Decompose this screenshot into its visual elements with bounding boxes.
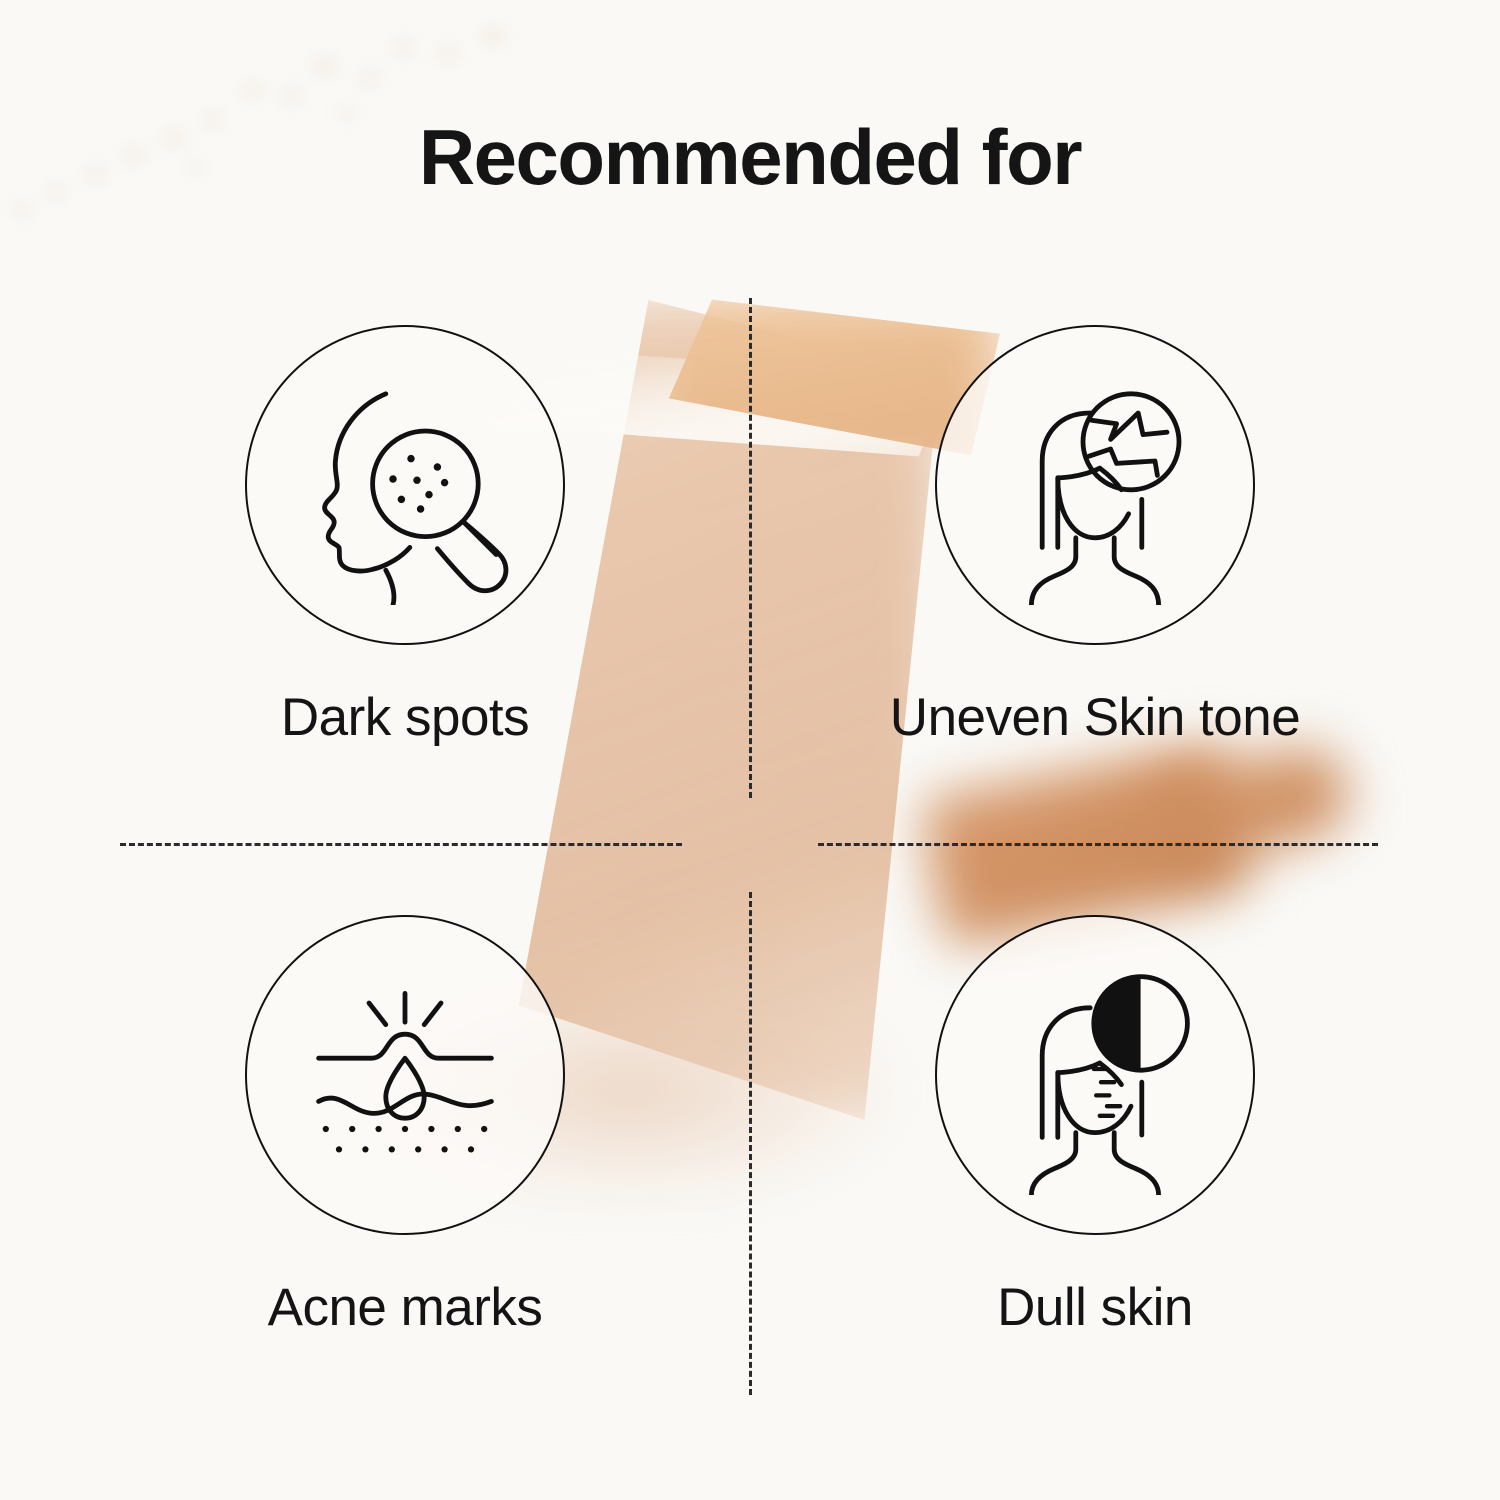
woman-dull-skin-contrast-icon: [935, 915, 1255, 1235]
recommended-for-poster: Recommended for: [0, 0, 1500, 1500]
face-magnifier-spots-icon: [245, 325, 565, 645]
benefit-label: Uneven Skin tone: [890, 687, 1300, 748]
benefit-item-dark-spots: Dark spots: [85, 325, 725, 748]
benefit-item-acne-marks: Acne marks: [85, 915, 725, 1338]
benefit-label: Acne marks: [268, 1277, 543, 1338]
benefit-item-dull-skin: Dull skin: [775, 915, 1415, 1338]
benefit-label: Dull skin: [997, 1277, 1193, 1338]
benefit-label: Dark spots: [281, 687, 529, 748]
benefits-grid: Dark spots: [0, 0, 1500, 1500]
benefit-item-uneven-skin-tone: Uneven Skin tone: [775, 325, 1415, 748]
skin-layers-acne-icon: [245, 915, 565, 1235]
woman-uneven-tone-icon: [935, 325, 1255, 645]
